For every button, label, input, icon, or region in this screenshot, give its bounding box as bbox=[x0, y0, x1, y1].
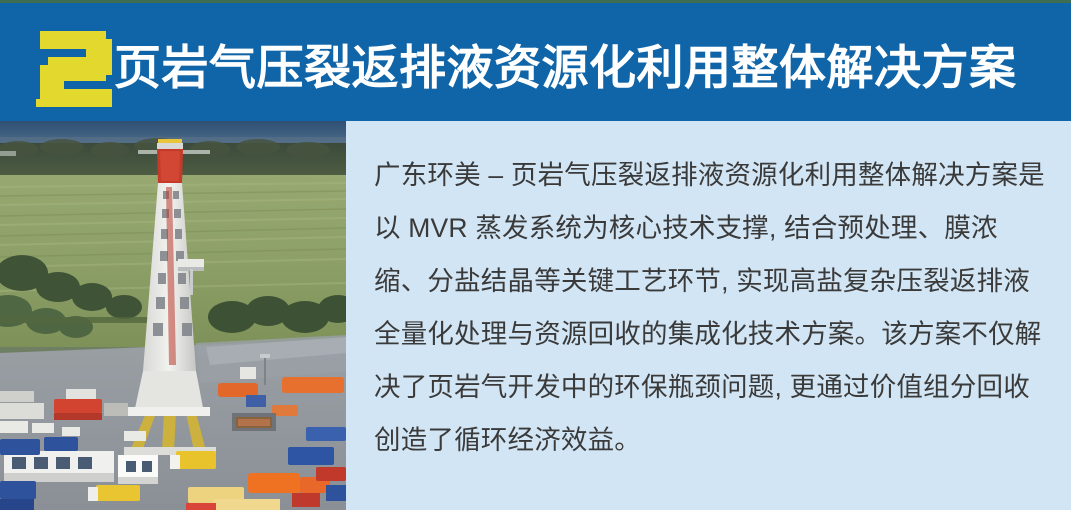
solution-card: 页岩气压裂返排液资源化利用整体解决方案 bbox=[0, 0, 1071, 510]
solution-description: 广东环美 – 页岩气压裂返排液资源化利用整体解决方案是以 MVR 蒸发系统为核心… bbox=[374, 149, 1045, 467]
description-panel: 广东环美 – 页岩气压裂返排液资源化利用整体解决方案是以 MVR 蒸发系统为核心… bbox=[346, 121, 1071, 510]
page-title: 页岩气压裂返排液资源化利用整体解决方案 bbox=[114, 33, 1014, 103]
drilling-rig-site-photo bbox=[0, 121, 346, 510]
header-band: 页岩气压裂返排液资源化利用整体解决方案 bbox=[0, 3, 1071, 121]
number-two-badge-icon bbox=[34, 29, 112, 109]
